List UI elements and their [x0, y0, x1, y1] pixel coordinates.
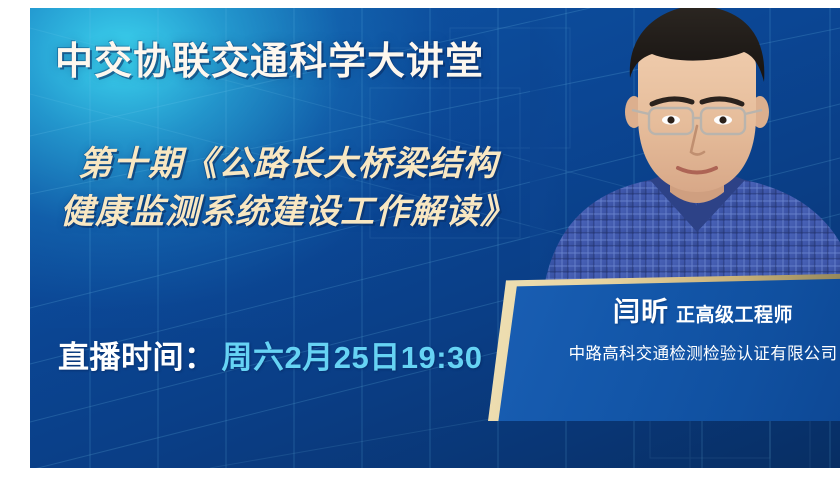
speaker-role-title: 正高级工程师 [676, 305, 793, 326]
poster-frame: 中交协联交通科学大讲堂 第十期《公路长大桥梁结构 健康监测系统建设工作解读》 直… [0, 0, 840, 480]
subtitle-block: 第十期《公路长大桥梁结构 健康监测系统建设工作解读》 [60, 140, 620, 236]
speaker-info-panel: 闫昕正高级工程师 中路高科交通检测检验认证有限公司 [488, 273, 840, 421]
livestream-time-value: 周六2月25日19:30 [222, 340, 483, 375]
page-title: 中交协联交通科学大讲堂 [55, 30, 484, 85]
livestream-time-row: 直播时间：周六2月25日19:30 [58, 332, 483, 377]
subtitle-line-1: 第十期《公路长大桥梁结构 [60, 140, 620, 188]
speaker-identity-row: 闫昕正高级工程师 [528, 299, 840, 326]
livestream-time-label: 直播时间： [58, 340, 216, 375]
poster-artwork-canvas: 中交协联交通科学大讲堂 第十期《公路长大桥梁结构 健康监测系统建设工作解读》 直… [30, 8, 840, 468]
subtitle-line-2: 健康监测系统建设工作解读》 [60, 188, 620, 236]
speaker-panel-text: 闫昕正高级工程师 中路高科交通检测检验认证有限公司 [528, 299, 840, 364]
speaker-company: 中路高科交通检测检验认证有限公司 [528, 340, 840, 364]
speaker-name: 闫昕 [613, 297, 669, 327]
